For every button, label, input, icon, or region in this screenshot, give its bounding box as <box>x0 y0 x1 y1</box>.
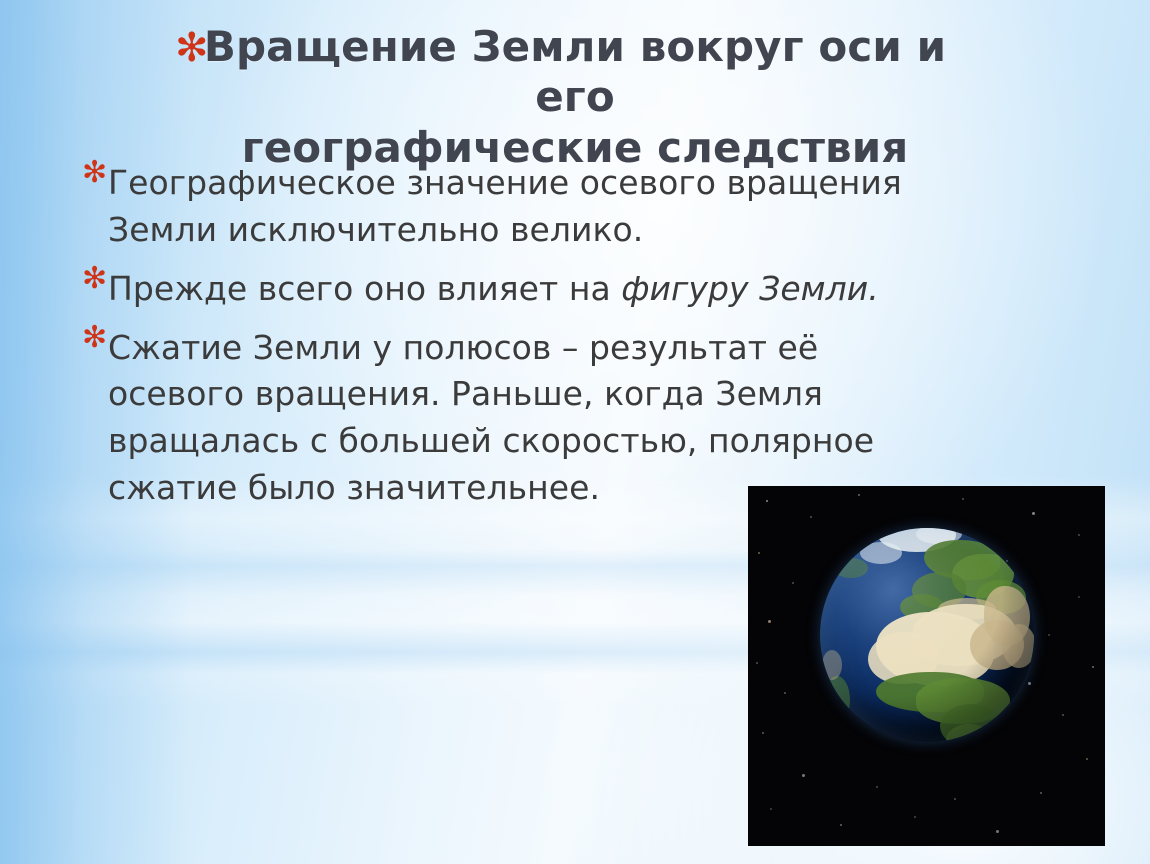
bullet-item-1: ✻ Географическое значение осевого вращен… <box>78 160 908 254</box>
slide-body: ✻ Географическое значение осевого вращен… <box>78 160 908 524</box>
bullet-item-3: ✻ Сжатие Земли у полюсов – результат её … <box>78 325 908 512</box>
title-line-1: Вращение Земли вокруг оси и его <box>170 22 980 123</box>
bullet-item-2: ✻ Прежде всего оно влияет на фигуру Земл… <box>78 266 908 313</box>
title-asterisk-icon: ✻ <box>175 28 209 68</box>
bullet-text-2-emphasis: фигуру Земли. <box>621 269 879 308</box>
earth-globe <box>820 528 1034 742</box>
presentation-slide: ✻ Вращение Земли вокруг оси и его геогра… <box>0 0 1150 864</box>
bullet-text-2: Прежде всего оно влияет на фигуру Земли. <box>108 266 908 313</box>
bullet-asterisk-icon: ✻ <box>82 158 107 188</box>
bullet-asterisk-icon: ✻ <box>82 264 107 294</box>
bullet-text-2-lead: Прежде всего оно влияет на <box>108 269 621 308</box>
earth-photo <box>748 486 1105 846</box>
bullet-text-3: Сжатие Земли у полюсов – результат её ос… <box>108 325 908 512</box>
slide-title: ✻ Вращение Земли вокруг оси и его геогра… <box>170 22 980 173</box>
bullet-text-1: Географическое значение осевого вращения… <box>108 160 908 254</box>
bullet-asterisk-icon: ✻ <box>82 323 107 353</box>
earth-terminator-shading <box>820 528 1034 742</box>
